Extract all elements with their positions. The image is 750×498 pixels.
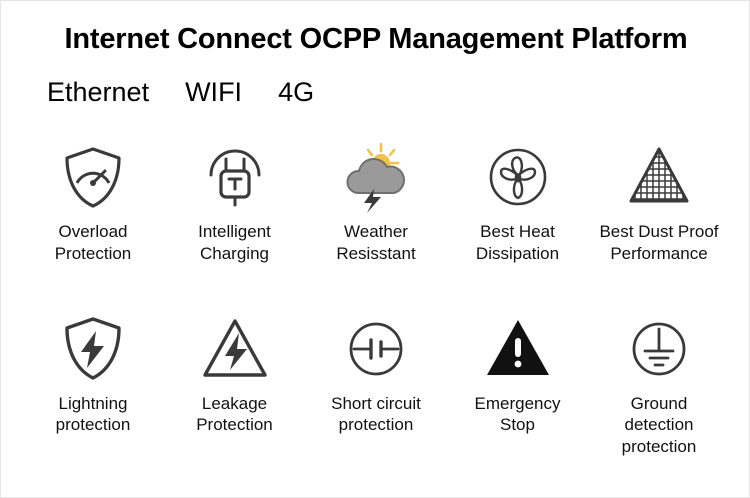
- warning-triangle-icon: [482, 313, 554, 385]
- feature-item-short-circuit-protection: Short circuit protection: [306, 313, 446, 437]
- feature-item-intelligent-charging: Intelligent Charging: [165, 141, 305, 265]
- feature-label: Intelligent Charging: [198, 221, 271, 265]
- ground-earth-icon: [623, 313, 695, 385]
- feature-item-weather-resisstant: Weather Resisstant: [306, 141, 446, 265]
- feature-label: Weather Resisstant: [336, 221, 415, 265]
- plug-charging-icon: [199, 141, 271, 213]
- feature-label: Best Heat Dissipation: [476, 221, 559, 265]
- dust-mesh-triangle-icon: [623, 141, 695, 213]
- feature-item-best-heat-dissipation: Best Heat Dissipation: [448, 141, 588, 265]
- feature-label: Lightning protection: [56, 393, 131, 437]
- feature-label: Overload Protection: [55, 221, 132, 265]
- cloud-sun-lightning-icon: [336, 141, 416, 213]
- feature-row-1: Overload Protection Intelligent Charging: [23, 141, 729, 265]
- feature-item-best-dust-proof-performance: Best Dust Proof Performance: [589, 141, 729, 265]
- shield-gauge-icon: [57, 141, 129, 213]
- feature-item-ground-detection-protection: Ground detection protection: [589, 313, 729, 458]
- feature-label: Emergency Stop: [475, 393, 561, 437]
- connectivity-item-ethernet: Ethernet: [47, 77, 149, 108]
- feature-label: Ground detection protection: [622, 393, 697, 458]
- feature-row-2: Lightning protection Leakage Protection: [23, 313, 729, 458]
- connectivity-list: Ethernet WIFI 4G: [47, 77, 314, 108]
- feature-item-leakage-protection: Leakage Protection: [165, 313, 305, 437]
- feature-grid: Overload Protection Intelligent Charging: [23, 141, 729, 458]
- feature-item-overload-protection: Overload Protection: [23, 141, 163, 265]
- promo-panel: Internet Connect OCPP Management Platfor…: [0, 0, 750, 498]
- shield-lightning-icon: [57, 313, 129, 385]
- connectivity-item-wifi: WIFI: [185, 77, 242, 108]
- feature-item-lightning-protection: Lightning protection: [23, 313, 163, 437]
- feature-item-emergency-stop: Emergency Stop: [448, 313, 588, 437]
- triangle-lightning-icon: [199, 313, 271, 385]
- fan-circle-icon: [482, 141, 554, 213]
- connectivity-item-4g: 4G: [278, 77, 314, 108]
- feature-label: Best Dust Proof Performance: [599, 221, 718, 265]
- feature-label: Short circuit protection: [331, 393, 421, 437]
- page-title: Internet Connect OCPP Management Platfor…: [1, 23, 750, 56]
- feature-label: Leakage Protection: [196, 393, 273, 437]
- short-circuit-icon: [340, 313, 412, 385]
